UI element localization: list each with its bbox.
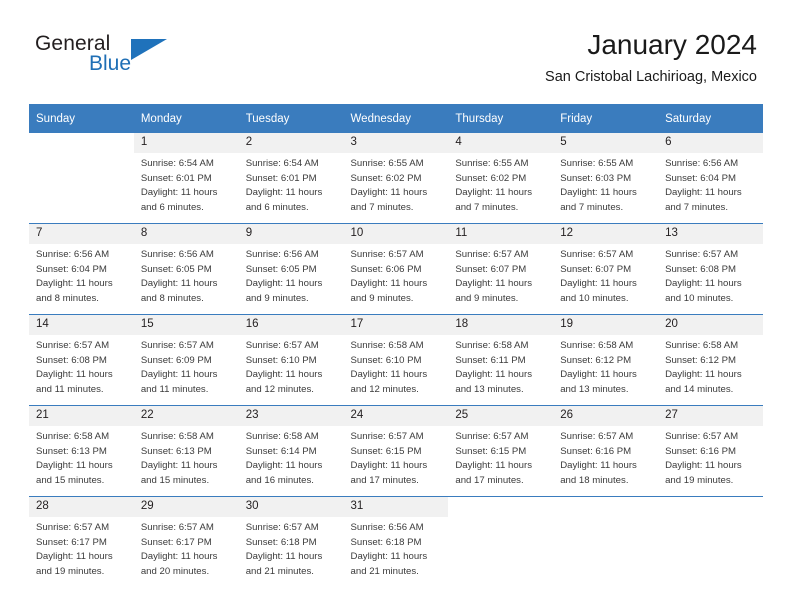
weekday-header-thursday: Thursday xyxy=(448,104,553,133)
day-detail-line: Daylight: 11 hours xyxy=(141,550,234,565)
day-number: 8 xyxy=(134,224,239,244)
page-subtitle: San Cristobal Lachirioag, Mexico xyxy=(545,68,757,86)
weekday-header-sunday: Sunday xyxy=(29,104,134,133)
day-detail-line: Sunset: 6:17 PM xyxy=(36,536,129,551)
day-number: 13 xyxy=(658,224,763,244)
day-detail-line: Daylight: 11 hours xyxy=(246,550,339,565)
weekday-header-saturday: Saturday xyxy=(658,104,763,133)
day-detail-line: Sunset: 6:10 PM xyxy=(351,354,444,369)
calendar-day-cell[interactable]: 6Sunrise: 6:56 AMSunset: 6:04 PMDaylight… xyxy=(658,133,763,224)
day-detail-line: Daylight: 11 hours xyxy=(560,368,653,383)
calendar-day-cell[interactable]: 23Sunrise: 6:58 AMSunset: 6:14 PMDayligh… xyxy=(239,406,344,497)
day-number: 19 xyxy=(553,315,658,335)
day-detail-line: Sunset: 6:09 PM xyxy=(141,354,234,369)
day-detail-line: Sunrise: 6:58 AM xyxy=(665,339,758,354)
day-detail-line: Daylight: 11 hours xyxy=(351,459,444,474)
day-number xyxy=(553,497,658,517)
calendar-day-cell[interactable]: 28Sunrise: 6:57 AMSunset: 6:17 PMDayligh… xyxy=(29,497,134,588)
title-block: January 2024 San Cristobal Lachirioag, M… xyxy=(545,28,757,86)
day-detail-line: and 20 minutes. xyxy=(141,565,234,580)
day-number: 6 xyxy=(658,133,763,153)
calendar-body: 1Sunrise: 6:54 AMSunset: 6:01 PMDaylight… xyxy=(29,133,763,587)
day-detail-line: Sunset: 6:10 PM xyxy=(246,354,339,369)
day-detail-line: Sunset: 6:04 PM xyxy=(665,172,758,187)
day-detail-line: Sunrise: 6:57 AM xyxy=(455,430,548,445)
day-detail-line: Daylight: 11 hours xyxy=(36,368,129,383)
day-number: 31 xyxy=(344,497,449,517)
day-details: Sunrise: 6:58 AMSunset: 6:12 PMDaylight:… xyxy=(553,335,658,397)
day-details: Sunrise: 6:58 AMSunset: 6:11 PMDaylight:… xyxy=(448,335,553,397)
day-detail-line: Daylight: 11 hours xyxy=(665,459,758,474)
day-details: Sunrise: 6:58 AMSunset: 6:10 PMDaylight:… xyxy=(344,335,449,397)
day-detail-line: Sunrise: 6:56 AM xyxy=(141,248,234,263)
day-detail-line: Sunrise: 6:57 AM xyxy=(560,248,653,263)
day-detail-line: Daylight: 11 hours xyxy=(665,368,758,383)
day-detail-line: Sunrise: 6:55 AM xyxy=(455,157,548,172)
day-detail-line: Daylight: 11 hours xyxy=(560,186,653,201)
day-number: 12 xyxy=(553,224,658,244)
day-number: 2 xyxy=(239,133,344,153)
calendar-week-row: 14Sunrise: 6:57 AMSunset: 6:08 PMDayligh… xyxy=(29,315,763,406)
day-details: Sunrise: 6:58 AMSunset: 6:13 PMDaylight:… xyxy=(134,426,239,488)
calendar-day-cell[interactable]: 13Sunrise: 6:57 AMSunset: 6:08 PMDayligh… xyxy=(658,224,763,315)
calendar-day-cell[interactable]: 16Sunrise: 6:57 AMSunset: 6:10 PMDayligh… xyxy=(239,315,344,406)
day-details: Sunrise: 6:57 AMSunset: 6:09 PMDaylight:… xyxy=(134,335,239,397)
day-detail-line: Sunrise: 6:54 AM xyxy=(246,157,339,172)
day-detail-line: Daylight: 11 hours xyxy=(665,186,758,201)
day-detail-line: Sunrise: 6:57 AM xyxy=(560,430,653,445)
day-detail-line: Daylight: 11 hours xyxy=(246,186,339,201)
day-detail-line: Daylight: 11 hours xyxy=(455,186,548,201)
calendar-day-cell[interactable]: 19Sunrise: 6:58 AMSunset: 6:12 PMDayligh… xyxy=(553,315,658,406)
calendar-page: General Blue January 2024 San Cristobal … xyxy=(0,0,792,612)
day-detail-line: Sunset: 6:18 PM xyxy=(351,536,444,551)
day-detail-line: Daylight: 11 hours xyxy=(665,277,758,292)
day-detail-line: Daylight: 11 hours xyxy=(455,368,548,383)
day-detail-line: Daylight: 11 hours xyxy=(141,186,234,201)
day-detail-line: Daylight: 11 hours xyxy=(351,368,444,383)
day-details: Sunrise: 6:57 AMSunset: 6:18 PMDaylight:… xyxy=(239,517,344,579)
day-detail-line: and 21 minutes. xyxy=(246,565,339,580)
day-details: Sunrise: 6:56 AMSunset: 6:04 PMDaylight:… xyxy=(658,153,763,215)
calendar-week-row: 1Sunrise: 6:54 AMSunset: 6:01 PMDaylight… xyxy=(29,133,763,224)
day-detail-line: and 8 minutes. xyxy=(141,292,234,307)
weekday-header-friday: Friday xyxy=(553,104,658,133)
weekday-header-wednesday: Wednesday xyxy=(344,104,449,133)
day-details: Sunrise: 6:58 AMSunset: 6:14 PMDaylight:… xyxy=(239,426,344,488)
day-details: Sunrise: 6:56 AMSunset: 6:05 PMDaylight:… xyxy=(239,244,344,306)
calendar-day-cell[interactable]: 5Sunrise: 6:55 AMSunset: 6:03 PMDaylight… xyxy=(553,133,658,224)
day-detail-line: Sunset: 6:07 PM xyxy=(560,263,653,278)
day-details: Sunrise: 6:57 AMSunset: 6:16 PMDaylight:… xyxy=(658,426,763,488)
day-number: 4 xyxy=(448,133,553,153)
day-detail-line: Sunrise: 6:56 AM xyxy=(246,248,339,263)
day-detail-line: and 12 minutes. xyxy=(351,383,444,398)
day-detail-line: Daylight: 11 hours xyxy=(141,277,234,292)
calendar-week-row: 21Sunrise: 6:58 AMSunset: 6:13 PMDayligh… xyxy=(29,406,763,497)
calendar-day-cell[interactable]: 11Sunrise: 6:57 AMSunset: 6:07 PMDayligh… xyxy=(448,224,553,315)
calendar-header-row: SundayMondayTuesdayWednesdayThursdayFrid… xyxy=(29,104,763,133)
day-detail-line: Daylight: 11 hours xyxy=(351,277,444,292)
day-details: Sunrise: 6:57 AMSunset: 6:17 PMDaylight:… xyxy=(134,517,239,579)
day-number: 20 xyxy=(658,315,763,335)
day-number: 7 xyxy=(29,224,134,244)
day-detail-line: Daylight: 11 hours xyxy=(560,459,653,474)
day-detail-line: and 21 minutes. xyxy=(351,565,444,580)
day-detail-line: Sunset: 6:08 PM xyxy=(665,263,758,278)
day-detail-line: and 17 minutes. xyxy=(455,474,548,489)
day-details: Sunrise: 6:57 AMSunset: 6:07 PMDaylight:… xyxy=(448,244,553,306)
day-detail-line: Sunrise: 6:56 AM xyxy=(665,157,758,172)
calendar-day-cell[interactable]: 31Sunrise: 6:56 AMSunset: 6:18 PMDayligh… xyxy=(344,497,449,588)
day-detail-line: Sunset: 6:17 PM xyxy=(141,536,234,551)
day-detail-line: Sunset: 6:16 PM xyxy=(560,445,653,460)
day-number: 29 xyxy=(134,497,239,517)
day-detail-line: Sunrise: 6:55 AM xyxy=(560,157,653,172)
day-detail-line: Daylight: 11 hours xyxy=(36,459,129,474)
day-detail-line: Sunrise: 6:56 AM xyxy=(36,248,129,263)
day-detail-line: and 9 minutes. xyxy=(455,292,548,307)
day-detail-line: and 10 minutes. xyxy=(560,292,653,307)
day-details: Sunrise: 6:54 AMSunset: 6:01 PMDaylight:… xyxy=(134,153,239,215)
day-detail-line: Sunset: 6:15 PM xyxy=(351,445,444,460)
day-number xyxy=(658,497,763,517)
day-detail-line: Sunrise: 6:57 AM xyxy=(141,339,234,354)
calendar-day-cell[interactable]: 30Sunrise: 6:57 AMSunset: 6:18 PMDayligh… xyxy=(239,497,344,588)
day-detail-line: Sunrise: 6:57 AM xyxy=(36,521,129,536)
day-detail-line: and 7 minutes. xyxy=(665,201,758,216)
calendar-day-cell[interactable]: 27Sunrise: 6:57 AMSunset: 6:16 PMDayligh… xyxy=(658,406,763,497)
calendar-grid: SundayMondayTuesdayWednesdayThursdayFrid… xyxy=(29,104,763,587)
day-detail-line: Daylight: 11 hours xyxy=(246,277,339,292)
calendar-day-cell[interactable]: 1Sunrise: 6:54 AMSunset: 6:01 PMDaylight… xyxy=(134,133,239,224)
weekday-header-tuesday: Tuesday xyxy=(239,104,344,133)
day-detail-line: and 16 minutes. xyxy=(246,474,339,489)
day-number: 27 xyxy=(658,406,763,426)
day-detail-line: Sunset: 6:12 PM xyxy=(560,354,653,369)
day-number: 28 xyxy=(29,497,134,517)
day-number: 11 xyxy=(448,224,553,244)
day-detail-line: Sunrise: 6:57 AM xyxy=(246,521,339,536)
calendar-cell-empty xyxy=(553,497,658,588)
day-number: 5 xyxy=(553,133,658,153)
day-details: Sunrise: 6:58 AMSunset: 6:13 PMDaylight:… xyxy=(29,426,134,488)
day-detail-line: Sunset: 6:07 PM xyxy=(455,263,548,278)
day-detail-line: Daylight: 11 hours xyxy=(560,277,653,292)
day-detail-line: Sunrise: 6:57 AM xyxy=(36,339,129,354)
day-detail-line: and 15 minutes. xyxy=(36,474,129,489)
day-number: 14 xyxy=(29,315,134,335)
day-detail-line: and 9 minutes. xyxy=(246,292,339,307)
day-detail-line: Sunset: 6:13 PM xyxy=(141,445,234,460)
day-detail-line: and 15 minutes. xyxy=(141,474,234,489)
day-details: Sunrise: 6:57 AMSunset: 6:15 PMDaylight:… xyxy=(448,426,553,488)
day-detail-line: Sunset: 6:12 PM xyxy=(665,354,758,369)
day-detail-line: Sunrise: 6:58 AM xyxy=(246,430,339,445)
day-number: 17 xyxy=(344,315,449,335)
day-detail-line: Sunset: 6:14 PM xyxy=(246,445,339,460)
calendar-day-cell[interactable]: 15Sunrise: 6:57 AMSunset: 6:09 PMDayligh… xyxy=(134,315,239,406)
day-detail-line: Daylight: 11 hours xyxy=(246,368,339,383)
calendar-day-cell[interactable]: 12Sunrise: 6:57 AMSunset: 6:07 PMDayligh… xyxy=(553,224,658,315)
day-details: Sunrise: 6:57 AMSunset: 6:06 PMDaylight:… xyxy=(344,244,449,306)
day-detail-line: and 12 minutes. xyxy=(246,383,339,398)
day-number xyxy=(448,497,553,517)
day-detail-line: Daylight: 11 hours xyxy=(36,550,129,565)
day-detail-line: Daylight: 11 hours xyxy=(36,277,129,292)
day-detail-line: Sunset: 6:06 PM xyxy=(351,263,444,278)
day-detail-line: Sunset: 6:03 PM xyxy=(560,172,653,187)
day-detail-line: Daylight: 11 hours xyxy=(351,186,444,201)
day-details: Sunrise: 6:55 AMSunset: 6:03 PMDaylight:… xyxy=(553,153,658,215)
day-detail-line: Sunset: 6:11 PM xyxy=(455,354,548,369)
day-detail-line: and 6 minutes. xyxy=(246,201,339,216)
day-number: 26 xyxy=(553,406,658,426)
calendar-table: SundayMondayTuesdayWednesdayThursdayFrid… xyxy=(29,104,763,587)
day-detail-line: Sunrise: 6:57 AM xyxy=(665,430,758,445)
day-number: 30 xyxy=(239,497,344,517)
day-number: 18 xyxy=(448,315,553,335)
day-details: Sunrise: 6:56 AMSunset: 6:05 PMDaylight:… xyxy=(134,244,239,306)
day-number: 23 xyxy=(239,406,344,426)
day-number: 25 xyxy=(448,406,553,426)
day-detail-line: and 14 minutes. xyxy=(665,383,758,398)
calendar-cell-empty xyxy=(448,497,553,588)
calendar-day-cell[interactable]: 22Sunrise: 6:58 AMSunset: 6:13 PMDayligh… xyxy=(134,406,239,497)
calendar-day-cell[interactable]: 25Sunrise: 6:57 AMSunset: 6:15 PMDayligh… xyxy=(448,406,553,497)
brand-logo[interactable]: General Blue xyxy=(35,32,215,88)
day-number: 21 xyxy=(29,406,134,426)
day-detail-line: and 6 minutes. xyxy=(141,201,234,216)
day-detail-line: Daylight: 11 hours xyxy=(141,459,234,474)
day-detail-line: and 10 minutes. xyxy=(665,292,758,307)
day-detail-line: Sunset: 6:02 PM xyxy=(351,172,444,187)
day-detail-line: and 19 minutes. xyxy=(665,474,758,489)
day-details: Sunrise: 6:57 AMSunset: 6:07 PMDaylight:… xyxy=(553,244,658,306)
day-number xyxy=(29,133,134,153)
day-detail-line: Sunrise: 6:57 AM xyxy=(665,248,758,263)
day-detail-line: Sunset: 6:01 PM xyxy=(246,172,339,187)
calendar-day-cell[interactable]: 9Sunrise: 6:56 AMSunset: 6:05 PMDaylight… xyxy=(239,224,344,315)
day-detail-line: Sunset: 6:16 PM xyxy=(665,445,758,460)
day-detail-line: and 7 minutes. xyxy=(455,201,548,216)
calendar-day-cell[interactable]: 29Sunrise: 6:57 AMSunset: 6:17 PMDayligh… xyxy=(134,497,239,588)
day-details: Sunrise: 6:56 AMSunset: 6:04 PMDaylight:… xyxy=(29,244,134,306)
calendar-day-cell[interactable]: 17Sunrise: 6:58 AMSunset: 6:10 PMDayligh… xyxy=(344,315,449,406)
day-detail-line: Sunset: 6:05 PM xyxy=(141,263,234,278)
triangle-icon xyxy=(131,39,167,60)
brand-name-blue: Blue xyxy=(89,52,131,76)
day-detail-line: Daylight: 11 hours xyxy=(246,459,339,474)
calendar-day-cell[interactable]: 10Sunrise: 6:57 AMSunset: 6:06 PMDayligh… xyxy=(344,224,449,315)
day-detail-line: Sunset: 6:05 PM xyxy=(246,263,339,278)
day-detail-line: Sunset: 6:02 PM xyxy=(455,172,548,187)
calendar-week-row: 7Sunrise: 6:56 AMSunset: 6:04 PMDaylight… xyxy=(29,224,763,315)
page-header: General Blue January 2024 San Cristobal … xyxy=(35,28,757,94)
day-number: 1 xyxy=(134,133,239,153)
day-number: 24 xyxy=(344,406,449,426)
day-detail-line: Sunrise: 6:58 AM xyxy=(560,339,653,354)
calendar-day-cell[interactable]: 4Sunrise: 6:55 AMSunset: 6:02 PMDaylight… xyxy=(448,133,553,224)
day-detail-line: Sunrise: 6:57 AM xyxy=(246,339,339,354)
day-detail-line: Sunset: 6:18 PM xyxy=(246,536,339,551)
day-detail-line: and 13 minutes. xyxy=(560,383,653,398)
calendar-day-cell[interactable]: 14Sunrise: 6:57 AMSunset: 6:08 PMDayligh… xyxy=(29,315,134,406)
day-detail-line: Sunrise: 6:58 AM xyxy=(455,339,548,354)
day-details: Sunrise: 6:57 AMSunset: 6:08 PMDaylight:… xyxy=(658,244,763,306)
page-title: January 2024 xyxy=(545,28,757,62)
day-detail-line: and 13 minutes. xyxy=(455,383,548,398)
day-details: Sunrise: 6:57 AMSunset: 6:17 PMDaylight:… xyxy=(29,517,134,579)
day-detail-line: Sunrise: 6:56 AM xyxy=(351,521,444,536)
day-detail-line: Sunset: 6:13 PM xyxy=(36,445,129,460)
day-detail-line: and 7 minutes. xyxy=(351,201,444,216)
day-details: Sunrise: 6:57 AMSunset: 6:10 PMDaylight:… xyxy=(239,335,344,397)
day-detail-line: Sunrise: 6:54 AM xyxy=(141,157,234,172)
day-detail-line: Sunrise: 6:58 AM xyxy=(141,430,234,445)
calendar-cell-empty xyxy=(658,497,763,588)
calendar-day-cell[interactable]: 20Sunrise: 6:58 AMSunset: 6:12 PMDayligh… xyxy=(658,315,763,406)
day-detail-line: Sunrise: 6:55 AM xyxy=(351,157,444,172)
day-details: Sunrise: 6:57 AMSunset: 6:15 PMDaylight:… xyxy=(344,426,449,488)
day-detail-line: and 19 minutes. xyxy=(36,565,129,580)
day-detail-line: Daylight: 11 hours xyxy=(455,459,548,474)
day-number: 22 xyxy=(134,406,239,426)
day-detail-line: Daylight: 11 hours xyxy=(141,368,234,383)
calendar-day-cell[interactable]: 24Sunrise: 6:57 AMSunset: 6:15 PMDayligh… xyxy=(344,406,449,497)
day-number: 9 xyxy=(239,224,344,244)
day-detail-line: Sunrise: 6:57 AM xyxy=(141,521,234,536)
day-detail-line: Sunrise: 6:57 AM xyxy=(351,248,444,263)
day-number: 15 xyxy=(134,315,239,335)
calendar-day-cell[interactable]: 7Sunrise: 6:56 AMSunset: 6:04 PMDaylight… xyxy=(29,224,134,315)
day-details: Sunrise: 6:56 AMSunset: 6:18 PMDaylight:… xyxy=(344,517,449,579)
day-detail-line: Sunrise: 6:57 AM xyxy=(455,248,548,263)
calendar-cell-empty xyxy=(29,133,134,224)
day-detail-line: Daylight: 11 hours xyxy=(455,277,548,292)
calendar-week-row: 28Sunrise: 6:57 AMSunset: 6:17 PMDayligh… xyxy=(29,497,763,588)
day-detail-line: Sunset: 6:08 PM xyxy=(36,354,129,369)
calendar-day-cell[interactable]: 18Sunrise: 6:58 AMSunset: 6:11 PMDayligh… xyxy=(448,315,553,406)
day-detail-line: and 11 minutes. xyxy=(36,383,129,398)
day-detail-line: Sunset: 6:15 PM xyxy=(455,445,548,460)
day-detail-line: Sunrise: 6:57 AM xyxy=(351,430,444,445)
day-detail-line: and 7 minutes. xyxy=(560,201,653,216)
day-detail-line: Daylight: 11 hours xyxy=(351,550,444,565)
day-details: Sunrise: 6:55 AMSunset: 6:02 PMDaylight:… xyxy=(448,153,553,215)
day-number: 3 xyxy=(344,133,449,153)
day-details: Sunrise: 6:57 AMSunset: 6:08 PMDaylight:… xyxy=(29,335,134,397)
calendar-day-cell[interactable]: 21Sunrise: 6:58 AMSunset: 6:13 PMDayligh… xyxy=(29,406,134,497)
day-number: 10 xyxy=(344,224,449,244)
day-details: Sunrise: 6:58 AMSunset: 6:12 PMDaylight:… xyxy=(658,335,763,397)
day-detail-line: and 17 minutes. xyxy=(351,474,444,489)
calendar-day-cell[interactable]: 26Sunrise: 6:57 AMSunset: 6:16 PMDayligh… xyxy=(553,406,658,497)
day-detail-line: Sunrise: 6:58 AM xyxy=(36,430,129,445)
calendar-day-cell[interactable]: 8Sunrise: 6:56 AMSunset: 6:05 PMDaylight… xyxy=(134,224,239,315)
day-detail-line: and 9 minutes. xyxy=(351,292,444,307)
day-detail-line: and 18 minutes. xyxy=(560,474,653,489)
day-detail-line: and 11 minutes. xyxy=(141,383,234,398)
day-number: 16 xyxy=(239,315,344,335)
weekday-header-monday: Monday xyxy=(134,104,239,133)
day-detail-line: Sunset: 6:04 PM xyxy=(36,263,129,278)
calendar-day-cell[interactable]: 2Sunrise: 6:54 AMSunset: 6:01 PMDaylight… xyxy=(239,133,344,224)
day-detail-line: Sunset: 6:01 PM xyxy=(141,172,234,187)
day-detail-line: Sunrise: 6:58 AM xyxy=(351,339,444,354)
day-details: Sunrise: 6:54 AMSunset: 6:01 PMDaylight:… xyxy=(239,153,344,215)
calendar-day-cell[interactable]: 3Sunrise: 6:55 AMSunset: 6:02 PMDaylight… xyxy=(344,133,449,224)
day-details: Sunrise: 6:57 AMSunset: 6:16 PMDaylight:… xyxy=(553,426,658,488)
day-detail-line: and 8 minutes. xyxy=(36,292,129,307)
day-details: Sunrise: 6:55 AMSunset: 6:02 PMDaylight:… xyxy=(344,153,449,215)
